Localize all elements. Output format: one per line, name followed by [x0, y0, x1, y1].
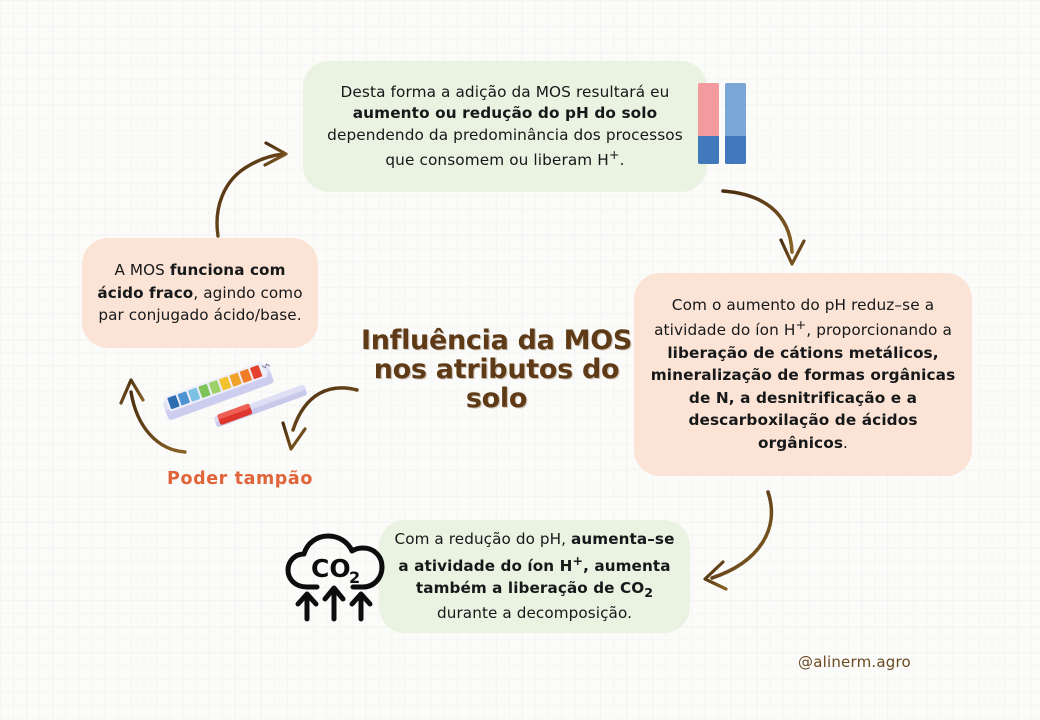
statement-box-left: A MOS funciona com ácido fraco, agindo c…: [82, 238, 318, 348]
poder-tampao-label: Poder tampão: [160, 469, 320, 489]
ph-bar-blue-fill: [725, 136, 746, 164]
statement-box-top: Desta forma a adição da MOS resultará eu…: [303, 61, 707, 192]
text-seg: dependendo da predominância dos processo…: [327, 126, 683, 169]
text-seg-sup: +: [795, 318, 806, 333]
ph-bars-graphic: [698, 83, 746, 164]
text-seg-sup: +: [572, 553, 583, 568]
co2-text: CO: [311, 554, 351, 583]
page-title-line-1: Influência da MOS: [355, 326, 638, 355]
text-seg: .: [843, 434, 848, 452]
page-title-line-2: nos atributos do: [355, 355, 638, 384]
text-seg: .: [620, 151, 625, 169]
text-seg: Desta forma a adição da MOS resultará eu: [341, 83, 670, 101]
arrow-left-box-to-top-box: [217, 143, 286, 236]
text-seg-bold: aumento ou redução do pH do solo: [353, 104, 657, 122]
ph-bar-pink: [698, 83, 719, 164]
text-seg: durante a decomposição.: [437, 604, 632, 622]
statement-box-top-text: Desta forma a adição da MOS resultará eu…: [319, 82, 691, 172]
co2-subscript: 2: [349, 568, 360, 587]
ph-test-strip-icon: [160, 352, 315, 442]
text-seg-sub: 2: [644, 585, 653, 600]
text-seg-sup: +: [609, 148, 620, 163]
arrow-right-box-to-bottom-box: [705, 492, 771, 589]
ph-bar-pink-fill: [698, 136, 719, 164]
statement-box-bottom: Com a redução do pH, aumenta–se a ativid…: [379, 520, 690, 633]
arrow-top-box-to-right-box: [723, 191, 804, 264]
statement-box-bottom-text: Com a redução do pH, aumenta–se a ativid…: [393, 528, 676, 625]
text-seg: A MOS: [114, 261, 169, 279]
statement-box-left-text: A MOS funciona com ácido fraco, agindo c…: [96, 259, 304, 327]
text-seg: Com a redução do pH,: [395, 530, 572, 548]
statement-box-right: Com o aumento do pH reduz–se a atividade…: [634, 273, 972, 476]
author-handle: @alinerm.agro: [798, 653, 911, 671]
co2-cloud-icon: CO 2: [283, 531, 387, 623]
statement-box-right-text: Com o aumento do pH reduz–se a atividade…: [648, 294, 958, 454]
infographic-canvas: Desta forma a adição da MOS resultará eu…: [0, 0, 1040, 720]
text-seg-bold: liberação de cátions metálicos, minerali…: [651, 344, 956, 453]
ph-bar-blue: [725, 83, 746, 164]
page-title-line-3: solo: [355, 384, 638, 413]
page-title: Influência da MOS nos atributos do solo: [355, 326, 638, 413]
text-seg: , proporcionando a: [806, 321, 952, 339]
